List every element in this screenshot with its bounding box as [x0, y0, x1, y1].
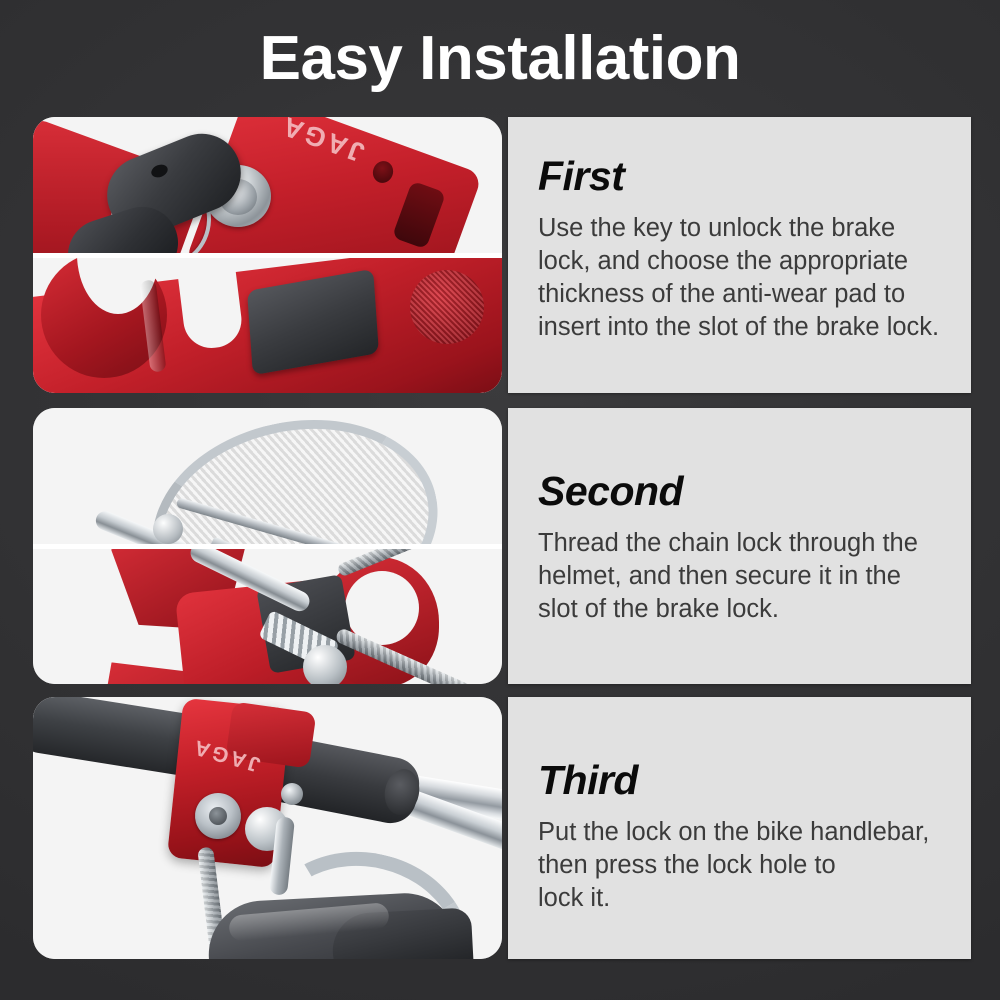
artwork-handlebar-lock-helmet: JAGA	[33, 697, 502, 959]
artwork-lock-body-and-pad	[33, 258, 502, 393]
artwork-cable-loop	[33, 408, 502, 544]
photo-lock-on-handlebar: JAGA	[33, 697, 502, 959]
photo-divider-first	[33, 253, 502, 258]
photo-panel-second	[33, 408, 502, 684]
page-title: Easy Installation	[0, 26, 1000, 91]
step-heading-second: Second	[538, 470, 945, 513]
text-block-second: Second Thread the chain lock through the…	[538, 470, 945, 626]
knurled-dial-shape	[410, 270, 484, 344]
text-block-first: First Use the key to unlock the brake lo…	[538, 155, 945, 345]
text-block-third: Third Put the lock on the bike handlebar…	[538, 759, 945, 915]
infographic-canvas: Easy Installation JAGA	[0, 0, 1000, 1000]
photo-panel-third: JAGA	[33, 697, 502, 959]
step-body-second: Thread the chain lock through the helmet…	[538, 527, 945, 626]
artwork-cable-in-lock	[33, 549, 502, 684]
lock-stud-shape	[281, 783, 303, 805]
photo-key-unlocking-lock: JAGA	[33, 117, 502, 253]
step-body-third: Put the lock on the bike handlebar, then…	[538, 816, 945, 915]
photo-lock-body-with-pad	[33, 258, 502, 393]
text-panel-second: Second Thread the chain lock through the…	[508, 408, 971, 684]
step-row-first: JAGA	[0, 117, 1000, 393]
text-panel-third: Third Put the lock on the bike handlebar…	[508, 697, 971, 959]
photo-panel-first: JAGA	[33, 117, 502, 393]
lock-keyhole-inner-shape	[209, 807, 227, 825]
step-row-second: Second Thread the chain lock through the…	[0, 408, 1000, 684]
photo-divider-second	[33, 544, 502, 549]
step-heading-first: First	[538, 155, 945, 198]
photo-cable-lock-loop	[33, 408, 502, 544]
cable-collar-shape	[153, 514, 183, 544]
photo-cable-secured-in-slot	[33, 549, 502, 684]
artwork-key-and-lock: JAGA	[33, 117, 502, 253]
text-panel-first: First Use the key to unlock the brake lo…	[508, 117, 971, 393]
step-heading-third: Third	[538, 759, 945, 802]
step-row-third: JAGA Third	[0, 697, 1000, 959]
pin-ball-shape	[303, 645, 347, 684]
step-body-first: Use the key to unlock the brake lock, an…	[538, 212, 945, 345]
